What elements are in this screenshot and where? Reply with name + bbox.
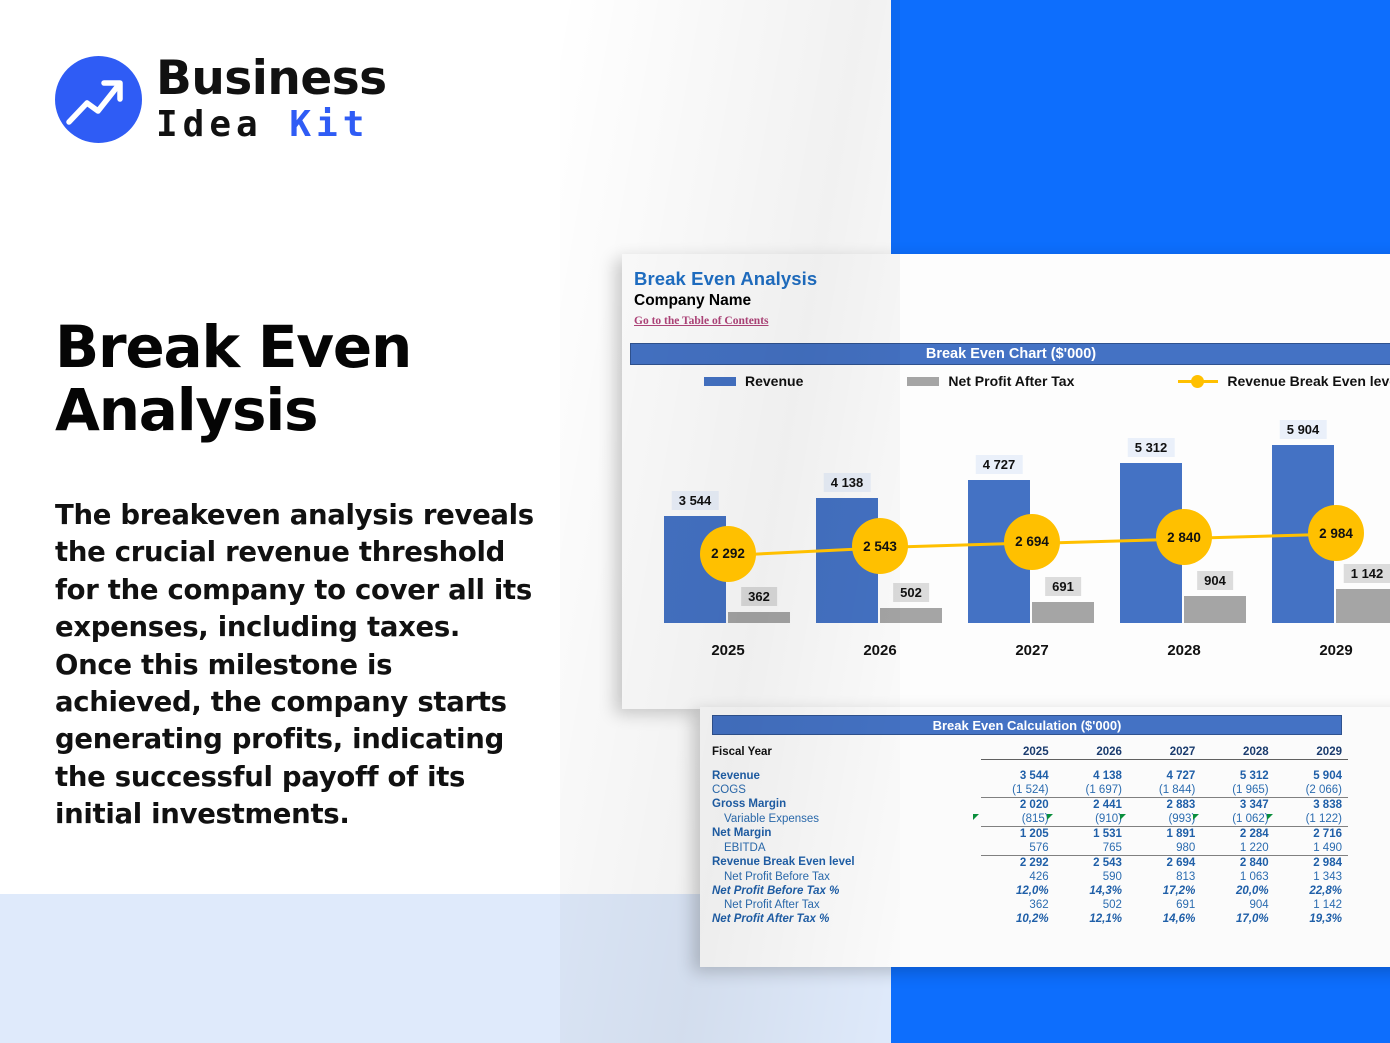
chart-banner: Break Even Chart ($'000)	[630, 343, 1390, 365]
data-label-net-profit-after-tax-2028: 904	[1197, 571, 1233, 590]
cell-2029: 1 490	[1275, 841, 1348, 856]
cell-2025: (815)	[981, 812, 1054, 827]
brand-name-idea: Idea	[156, 104, 289, 145]
break-even-marker-2028[interactable]: 2 840	[1156, 509, 1212, 565]
cell-2025: 362	[981, 898, 1054, 912]
cell-2027: 691	[1128, 898, 1201, 912]
bar-net-profit-after-tax-2028[interactable]	[1184, 596, 1246, 623]
cell-2028: 2 840	[1201, 855, 1274, 870]
legend-label-revenue: Revenue	[745, 373, 803, 389]
row-label-ebitda: EBITDA	[712, 841, 981, 856]
column-header-2025: 2025	[981, 745, 1054, 760]
cell-2029: 3 838	[1275, 797, 1348, 812]
chart-card: Break Even Analysis Company Name Go to t…	[622, 254, 1390, 709]
chart-legend: Revenue Net Profit After Tax Revenue Bre…	[622, 373, 1390, 389]
table-row: EBITDA5767659801 2201 490	[712, 841, 1348, 856]
cell-2026: 590	[1055, 870, 1128, 884]
table-row: Revenue Break Even level2 2922 5432 6942…	[712, 855, 1348, 870]
cell-2026: (1 697)	[1055, 783, 1128, 798]
data-label-net-profit-after-tax-2027: 691	[1045, 577, 1081, 596]
cell-2025: 12,0%	[981, 884, 1054, 898]
cell-2026: 1 531	[1055, 826, 1128, 841]
x-axis-label-2026: 2026	[863, 642, 896, 659]
data-label-revenue-2028: 5 312	[1128, 438, 1175, 457]
cell-2029: 1 142	[1275, 898, 1348, 912]
cell-2028: 904	[1201, 898, 1274, 912]
cell-2029: 5 904	[1275, 769, 1348, 783]
sheet-subtitle: Company Name	[634, 292, 1390, 310]
legend-swatch-revenue	[704, 377, 736, 386]
cell-2029: (1 122)	[1275, 812, 1348, 827]
brand-name-kit: Kit	[289, 104, 369, 145]
break-even-marker-2027[interactable]: 2 694	[1004, 514, 1060, 570]
row-label-net-margin: Net Margin	[712, 826, 981, 841]
x-axis-label-2027: 2027	[1015, 642, 1048, 659]
bar-net-profit-after-tax-2026[interactable]	[880, 608, 942, 623]
sheet-title: Break Even Analysis	[634, 268, 1390, 290]
row-label-revenue: Revenue	[712, 769, 981, 783]
cell-2028: (1 965)	[1201, 783, 1274, 798]
legend-item-break-even-level[interactable]: Revenue Break Even level	[1178, 373, 1390, 389]
cell-2026: 2 441	[1055, 797, 1128, 812]
data-label-revenue-2026: 4 138	[824, 473, 871, 492]
break-even-marker-2029[interactable]: 2 984	[1308, 505, 1364, 561]
data-label-revenue-2027: 4 727	[976, 455, 1023, 474]
comment-flag-icon	[1193, 814, 1199, 820]
bar-net-profit-after-tax-2029[interactable]	[1336, 589, 1390, 623]
cell-2028: 1 063	[1201, 870, 1274, 884]
cell-2027: 14,6%	[1128, 912, 1201, 926]
table-row: Net Profit Before Tax4265908131 0631 343	[712, 870, 1348, 884]
calculation-card: Break Even Calculation ($'000) Fiscal Ye…	[700, 707, 1390, 967]
legend-item-net-profit-after-tax[interactable]: Net Profit After Tax	[907, 373, 1074, 389]
cell-2028: 17,0%	[1201, 912, 1274, 926]
cell-2027: 813	[1128, 870, 1201, 884]
decor-panel-bottom-right	[891, 965, 1390, 1043]
cell-2027: 980	[1128, 841, 1201, 856]
brand-name-bottom: Idea Kit	[156, 107, 387, 143]
comment-flag-icon	[973, 814, 979, 820]
slide-canvas: Business Idea Kit Break Even Analysis Th…	[0, 0, 1390, 1043]
x-axis-label-2029: 2029	[1319, 642, 1352, 659]
column-header-2026: 2026	[1055, 745, 1128, 760]
cell-2028: 20,0%	[1201, 884, 1274, 898]
bar-net-profit-after-tax-2027[interactable]	[1032, 602, 1094, 623]
cell-2029: 2 984	[1275, 855, 1348, 870]
page-description: The breakeven analysis reveals the cruci…	[55, 497, 545, 834]
cell-2026: 14,3%	[1055, 884, 1128, 898]
cell-2027: 2 694	[1128, 855, 1201, 870]
row-label-variable-expenses: Variable Expenses	[712, 812, 981, 827]
cell-2027: (1 844)	[1128, 783, 1201, 798]
row-label-net-profit-before-tax: Net Profit Before Tax %	[712, 884, 981, 898]
table-of-contents-link[interactable]: Go to the Table of Contents	[634, 315, 769, 327]
cell-2025: 2 020	[981, 797, 1054, 812]
row-label-revenue-break-even-level: Revenue Break Even level	[712, 855, 981, 870]
cell-2029: 22,8%	[1275, 884, 1348, 898]
cell-2025: (1 524)	[981, 783, 1054, 798]
cell-2027: (993)	[1128, 812, 1201, 827]
column-header-2027: 2027	[1128, 745, 1201, 760]
chart-plot-area: 3 54436220254 13850220264 72769120275 31…	[622, 395, 1390, 675]
table-row: Net Profit After Tax3625026919041 142	[712, 898, 1348, 912]
column-header-2029: 2029	[1275, 745, 1348, 760]
brand-logo[interactable]: Business Idea Kit	[55, 55, 387, 143]
page-title: Break Even Analysis	[55, 316, 525, 441]
legend-label-net-profit-after-tax: Net Profit After Tax	[948, 373, 1074, 389]
table-row: Revenue3 5444 1384 7275 3125 904	[712, 769, 1348, 783]
x-axis-label-2028: 2028	[1167, 642, 1200, 659]
data-label-revenue-2029: 5 904	[1280, 420, 1327, 439]
cell-2027: 4 727	[1128, 769, 1201, 783]
legend-swatch-break-even-level	[1178, 380, 1218, 383]
data-label-net-profit-after-tax-2025: 362	[741, 587, 777, 606]
table-row: Net Profit After Tax %10,2%12,1%14,6%17,…	[712, 912, 1348, 926]
table-header-row: Fiscal Year 2025 2026 2027 2028 2029	[712, 745, 1348, 760]
cell-2029: 2 716	[1275, 826, 1348, 841]
legend-item-revenue[interactable]: Revenue	[704, 373, 803, 389]
cell-2028: (1 062)	[1201, 812, 1274, 827]
table-row: Net Margin1 2051 5311 8912 2842 716	[712, 826, 1348, 841]
row-label-gross-margin: Gross Margin	[712, 797, 981, 812]
row-label-net-profit-after-tax: Net Profit After Tax %	[712, 912, 981, 926]
cell-2025: 2 292	[981, 855, 1054, 870]
comment-flag-icon	[1120, 814, 1126, 820]
cell-2025: 426	[981, 870, 1054, 884]
comment-flag-icon	[1047, 814, 1053, 820]
cell-2026: 765	[1055, 841, 1128, 856]
break-even-marker-2026[interactable]: 2 543	[852, 518, 908, 574]
cell-2026: 2 543	[1055, 855, 1128, 870]
cell-2026: 502	[1055, 898, 1128, 912]
data-label-revenue-2025: 3 544	[672, 491, 719, 510]
cell-2028: 2 284	[1201, 826, 1274, 841]
column-header-2028: 2028	[1201, 745, 1274, 760]
cell-2025: 1 205	[981, 826, 1054, 841]
bar-net-profit-after-tax-2025[interactable]	[728, 612, 790, 623]
table-spacer-row	[712, 760, 1348, 769]
growth-arrow-icon	[55, 56, 142, 143]
row-label-cogs: COGS	[712, 783, 981, 798]
data-label-net-profit-after-tax-2026: 502	[893, 583, 929, 602]
column-header-fiscal-year: Fiscal Year	[712, 745, 981, 760]
data-label-net-profit-after-tax-2029: 1 142	[1344, 564, 1390, 583]
cell-2026: 12,1%	[1055, 912, 1128, 926]
break-even-marker-2025[interactable]: 2 292	[700, 526, 756, 582]
table-banner: Break Even Calculation ($'000)	[712, 715, 1342, 735]
decor-panel-top-right	[891, 0, 1390, 255]
cell-2028: 3 347	[1201, 797, 1274, 812]
break-even-calculation-table: Fiscal Year 2025 2026 2027 2028 2029 Rev…	[712, 745, 1348, 926]
table-row: Net Profit Before Tax %12,0%14,3%17,2%20…	[712, 884, 1348, 898]
cell-2029: 1 343	[1275, 870, 1348, 884]
brand-name-top: Business	[156, 55, 387, 102]
row-label-net-profit-before-tax: Net Profit Before Tax	[712, 870, 981, 884]
sheet-header: Break Even Analysis Company Name Go to t…	[622, 254, 1390, 329]
cell-2025: 10,2%	[981, 912, 1054, 926]
table-row: Variable Expenses(815)(910)(993)(1 062)(…	[712, 812, 1348, 827]
cell-2027: 17,2%	[1128, 884, 1201, 898]
cell-2028: 5 312	[1201, 769, 1274, 783]
cell-2027: 1 891	[1128, 826, 1201, 841]
cell-2028: 1 220	[1201, 841, 1274, 856]
cell-2025: 3 544	[981, 769, 1054, 783]
x-axis-label-2025: 2025	[711, 642, 744, 659]
table-row: Gross Margin2 0202 4412 8833 3473 838	[712, 797, 1348, 812]
legend-label-break-even-level: Revenue Break Even level	[1227, 373, 1390, 389]
legend-swatch-net-profit-after-tax	[907, 377, 939, 386]
cell-2029: 19,3%	[1275, 912, 1348, 926]
cell-2026: 4 138	[1055, 769, 1128, 783]
row-label-net-profit-after-tax: Net Profit After Tax	[712, 898, 981, 912]
cell-2027: 2 883	[1128, 797, 1201, 812]
comment-flag-icon	[1267, 814, 1273, 820]
cell-2026: (910)	[1055, 812, 1128, 827]
cell-2025: 576	[981, 841, 1054, 856]
cell-2029: (2 066)	[1275, 783, 1348, 798]
table-row: COGS(1 524)(1 697)(1 844)(1 965)(2 066)	[712, 783, 1348, 798]
